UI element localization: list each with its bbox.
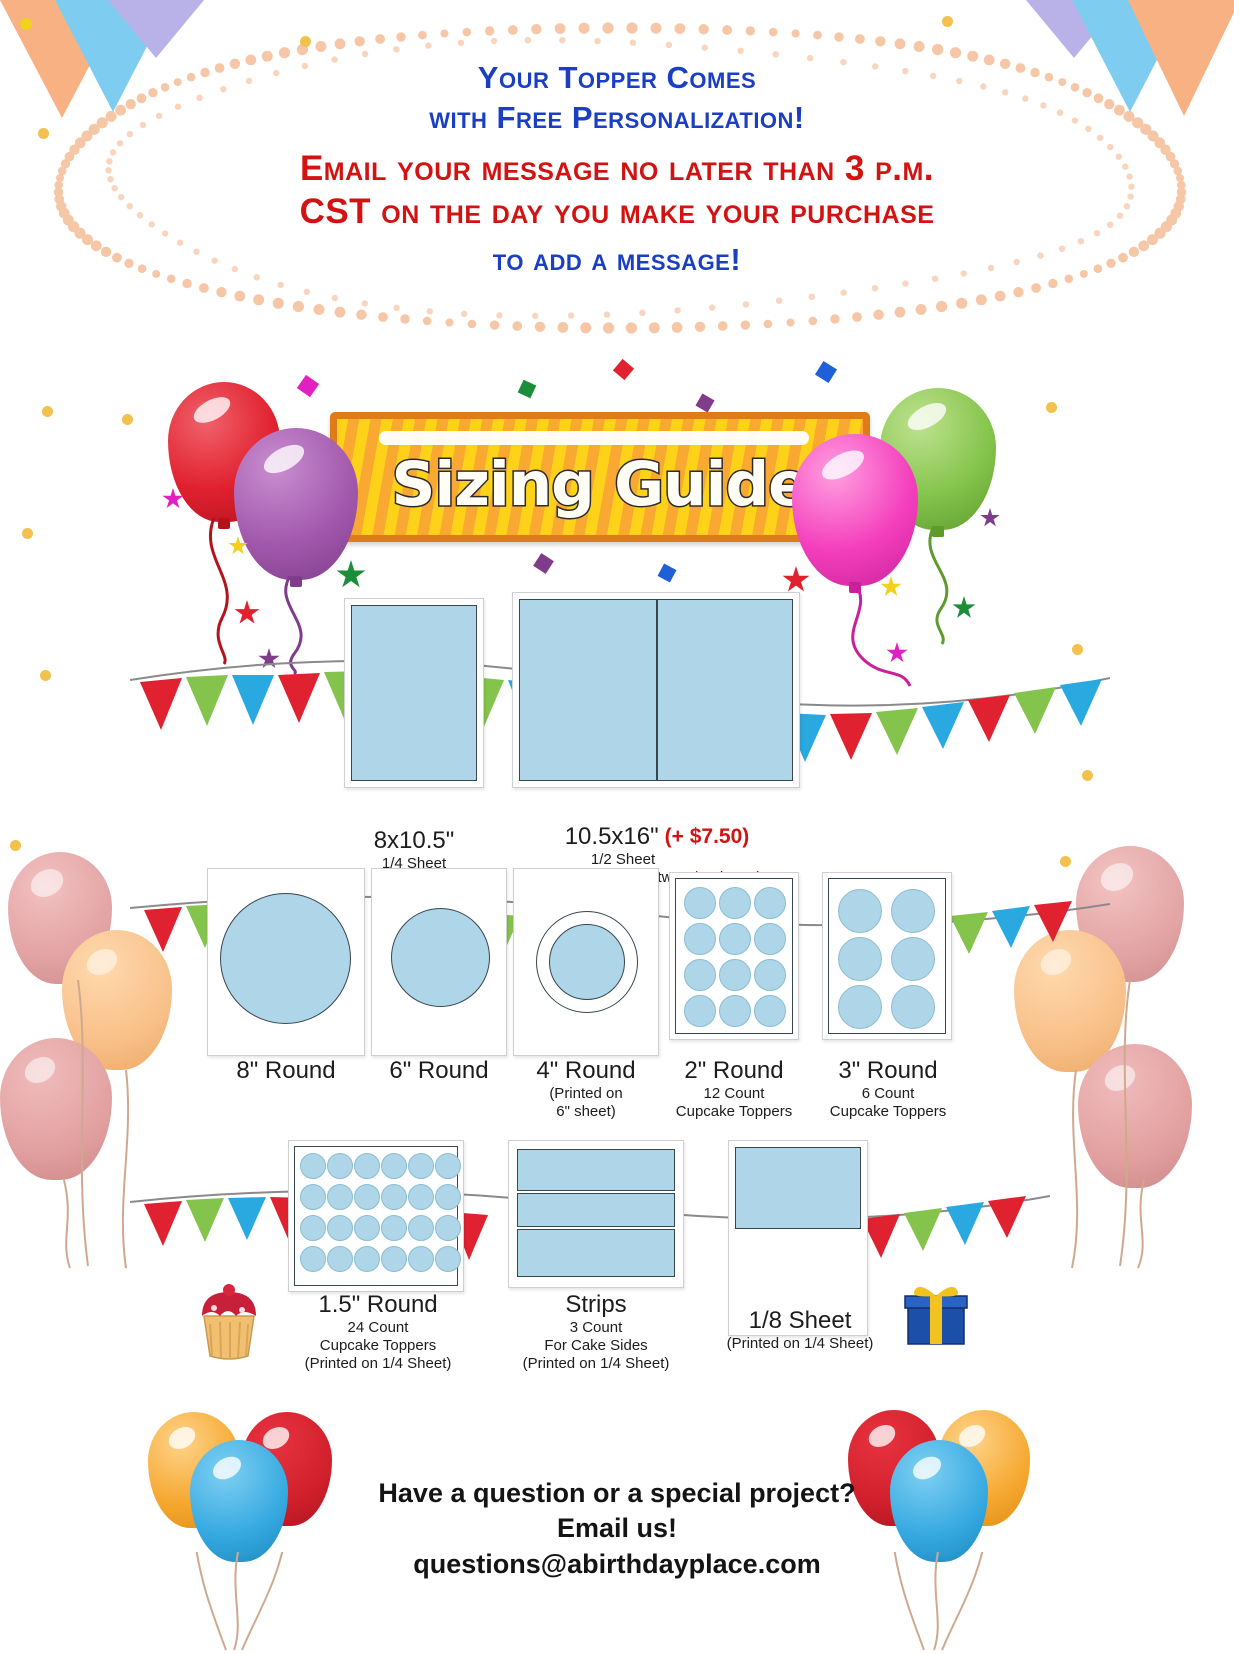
confetti-icon	[42, 406, 53, 417]
round-sub-1: (Printed on	[501, 1085, 671, 1103]
confetti-icon	[38, 128, 49, 139]
cupcake-topper-chip	[754, 887, 786, 919]
round-sub-2: Cupcake Toppers	[808, 1103, 968, 1121]
eighth-sheet-title: 1/8 Sheet	[700, 1308, 900, 1335]
cupcake-topper-chip	[684, 995, 716, 1027]
cupcake-topper-chip	[381, 1184, 407, 1210]
cupcake-topper-chip	[435, 1184, 461, 1210]
cupcake-topper-chip	[684, 923, 716, 955]
banner-gloss	[379, 431, 809, 445]
cupcake-topper-chip	[754, 959, 786, 991]
strips-card	[508, 1140, 684, 1288]
footer-line-1: Have a question or a special project?	[0, 1478, 1234, 1509]
round-caption-3in: 3" Round 6 Count Cupcake Toppers	[808, 1058, 968, 1121]
footer-block: Have a question or a special project? Em…	[0, 1478, 1234, 1580]
confetti-icon	[300, 36, 311, 47]
cupcake-topper-chip	[381, 1215, 407, 1241]
round-title: 1.5" Round	[280, 1292, 476, 1319]
confetti-icon	[942, 16, 953, 27]
round-caption-4in: 4" Round (Printed on 6" sheet)	[501, 1058, 671, 1121]
cupcake-topper-chip	[754, 995, 786, 1027]
cupcake-topper-chip	[354, 1184, 380, 1210]
confetti-icon	[695, 393, 714, 412]
header-line-4: CST on the day you make your purchase	[0, 193, 1234, 230]
confetti-icon	[40, 670, 51, 681]
cupcake-topper-chip	[381, 1153, 407, 1179]
header-block: Your Topper Comes with Free Personalizat…	[0, 62, 1234, 277]
cupcake-topper-chip	[327, 1215, 353, 1241]
round-sub-2: Cupcake Toppers	[280, 1337, 476, 1355]
round-print-area	[549, 924, 625, 1000]
eighth-sheet-print-area	[735, 1147, 861, 1229]
cupcake-topper-chip	[300, 1246, 326, 1272]
balloon-icon	[792, 434, 918, 586]
sheet-card-quarter	[344, 598, 484, 788]
confetti-icon	[518, 380, 537, 399]
sheet-sub-1: 1/2 Sheet	[512, 851, 734, 869]
round-title: 2" Round	[654, 1058, 814, 1085]
header-line-5: to add a message!	[0, 244, 1234, 277]
balloon-icon	[234, 428, 358, 580]
round-sub-1: 12 Count	[654, 1085, 814, 1103]
round-sub-1: 6 Count	[808, 1085, 968, 1103]
header-line-2: with Free Personalization!	[0, 102, 1234, 135]
round-title: 8" Round	[197, 1058, 375, 1085]
cupcake-topper-chip	[354, 1153, 380, 1179]
cupcake-topper-chip	[327, 1246, 353, 1272]
cupcake-topper-chip	[435, 1153, 461, 1179]
cupcake-topper-chip	[719, 959, 751, 991]
sheet-title: 10.5x16"	[565, 824, 659, 851]
cupcake-topper-chip	[381, 1246, 407, 1272]
cupcake-topper-chip	[327, 1184, 353, 1210]
bunting-flag-icon	[108, 0, 204, 58]
header-line-1: Your Topper Comes	[0, 62, 1234, 95]
eighth-sheet-caption: 1/8 Sheet (Printed on 1/4 Sheet)	[700, 1308, 900, 1353]
sheet-print-area	[351, 605, 477, 781]
round-card-6in	[371, 868, 507, 1056]
cupcake-topper-chip	[719, 887, 751, 919]
cupcake-topper-chip	[408, 1246, 434, 1272]
round-card-4in	[513, 868, 659, 1056]
confetti-icon	[22, 528, 33, 539]
cupcake-topper-chip	[354, 1215, 380, 1241]
cupcake-topper-chip	[838, 889, 882, 933]
round-print-area	[220, 893, 351, 1024]
strip-print-area	[517, 1193, 675, 1227]
round-caption-1-5in: 1.5" Round 24 Count Cupcake Toppers (Pri…	[280, 1292, 476, 1374]
eighth-sheet-sub-1: (Printed on 1/4 Sheet)	[700, 1335, 900, 1353]
strips-title: Strips	[498, 1292, 694, 1319]
confetti-icon	[815, 361, 837, 383]
cupcake-topper-chip	[684, 959, 716, 991]
gift-icon	[900, 1278, 972, 1350]
confetti-icon	[1060, 856, 1071, 867]
header-line-3: Email your message no later than 3 p.m.	[0, 150, 1234, 187]
sizing-guide-poster: Your Topper Comes with Free Personalizat…	[0, 0, 1234, 1654]
confetti-icon	[533, 553, 554, 574]
cupcake-topper-chip	[838, 937, 882, 981]
round-print-area	[391, 908, 490, 1007]
strips-sub-2: For Cake Sides	[498, 1337, 694, 1355]
cupcake-topper-chip	[408, 1184, 434, 1210]
cupcake-topper-chip	[754, 923, 786, 955]
cupcake-topper-chip	[300, 1184, 326, 1210]
round-card-1-5in	[288, 1140, 464, 1292]
cupcake-topper-chip	[719, 923, 751, 955]
confetti-icon	[613, 359, 634, 380]
cupcake-topper-chip	[684, 887, 716, 919]
cupcake-topper-chip	[891, 985, 935, 1029]
sheet-title: 8x10.5"	[324, 828, 504, 855]
strips-caption: Strips 3 Count For Cake Sides (Printed o…	[498, 1292, 694, 1374]
cupcake-topper-chip	[891, 889, 935, 933]
strips-sub-3: (Printed on 1/4 Sheet)	[498, 1355, 694, 1373]
cupcake-topper-chip	[435, 1246, 461, 1272]
footer-email[interactable]: questions@abirthdayplace.com	[0, 1549, 1234, 1580]
cupcake-topper-chip	[408, 1215, 434, 1241]
confetti-icon	[122, 414, 133, 425]
round-caption-2in: 2" Round 12 Count Cupcake Toppers	[654, 1058, 814, 1121]
round-sub-1: 24 Count	[280, 1319, 476, 1337]
cupcake-topper-chip	[719, 995, 751, 1027]
cupcake-topper-chip	[327, 1153, 353, 1179]
strips-sub-1: 3 Count	[498, 1319, 694, 1337]
confetti-icon	[10, 840, 21, 851]
round-caption-8in: 8" Round	[197, 1058, 375, 1085]
sizing-guide-banner: Sizing Guide	[330, 412, 870, 542]
confetti-icon	[658, 564, 677, 583]
banner-title: Sizing Guide	[337, 449, 863, 520]
confetti-icon	[297, 375, 319, 397]
cupcake-topper-chip	[838, 985, 882, 1029]
sheet-card-half	[512, 592, 800, 788]
round-sub-2: Cupcake Toppers	[654, 1103, 814, 1121]
confetti-icon	[1082, 770, 1093, 781]
round-card-2in	[669, 872, 799, 1040]
sheet-price: (+ $7.50)	[665, 825, 750, 851]
round-sub-3: (Printed on 1/4 Sheet)	[280, 1355, 476, 1373]
round-card-3in	[822, 872, 952, 1040]
cupcake-topper-chip	[300, 1153, 326, 1179]
cupcake-icon	[192, 1282, 266, 1360]
strip-print-area	[517, 1149, 675, 1191]
cupcake-topper-chip	[408, 1153, 434, 1179]
sheet-center-seam	[656, 599, 658, 781]
round-title: 3" Round	[808, 1058, 968, 1085]
cupcake-topper-chip	[435, 1215, 461, 1241]
confetti-icon	[20, 18, 32, 30]
sheet-caption-quarter: 8x10.5" 1/4 Sheet	[324, 828, 504, 873]
cupcake-topper-chip	[354, 1246, 380, 1272]
round-sub-2: 6" sheet)	[501, 1103, 671, 1121]
confetti-icon	[1046, 402, 1057, 413]
round-card-8in	[207, 868, 365, 1056]
strip-print-area	[517, 1229, 675, 1277]
footer-line-2: Email us!	[0, 1513, 1234, 1544]
round-title: 4" Round	[501, 1058, 671, 1085]
cupcake-topper-chip	[891, 937, 935, 981]
cupcake-topper-chip	[300, 1215, 326, 1241]
